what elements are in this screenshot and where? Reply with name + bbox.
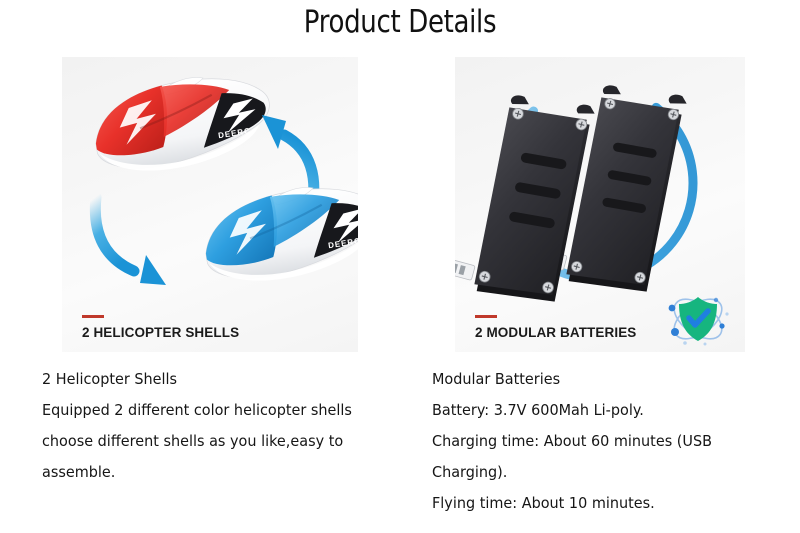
curved-arrow-down-right-icon — [95, 197, 166, 285]
description-line: 2 Helicopter Shells — [42, 364, 433, 395]
blue-helicopter-shell: DEERC — [198, 176, 358, 290]
caption-modular-batteries: 2 MODULAR BATTERIES — [475, 315, 636, 340]
description-line: Flying time: About 10 minutes. — [432, 488, 785, 519]
panel-modular-batteries: 2 MODULAR BATTERIES — [455, 57, 745, 352]
red-helicopter-shell: DEERC — [88, 66, 277, 180]
caption-dash-icon — [475, 315, 497, 318]
description-line: Equipped 2 different color helicopter sh… — [42, 395, 433, 426]
green-shield-check-badge — [659, 288, 737, 350]
panel-helicopter-shells: DEERC DEERC — [62, 57, 358, 352]
modular-batteries-illustration — [455, 57, 745, 309]
caption-label: 2 HELICOPTER SHELLS — [82, 325, 239, 340]
description-line: Charging time: About 60 minutes (USB — [432, 426, 785, 457]
caption-label: 2 MODULAR BATTERIES — [475, 325, 636, 340]
caption-helicopter-shells: 2 HELICOPTER SHELLS — [82, 315, 239, 340]
description-modular-batteries: Modular Batteries Battery: 3.7V 600Mah L… — [432, 364, 785, 519]
description-line: Modular Batteries — [432, 364, 785, 395]
description-line: Battery: 3.7V 600Mah Li-poly. — [432, 395, 785, 426]
caption-dash-icon — [82, 315, 104, 318]
description-line: assemble. — [42, 457, 433, 488]
modular-batteries-artwork — [455, 57, 745, 309]
description-line: Charging). — [432, 457, 785, 488]
page-title: Product Details — [64, 4, 736, 40]
battery-connector-left — [455, 259, 475, 280]
description-line: choose different shells as you like,easy… — [42, 426, 433, 457]
helicopter-shells-artwork: DEERC DEERC — [62, 57, 358, 309]
description-helicopter-shells: 2 Helicopter Shells Equipped 2 different… — [42, 364, 433, 488]
helicopter-shells-illustration: DEERC DEERC — [62, 57, 358, 309]
